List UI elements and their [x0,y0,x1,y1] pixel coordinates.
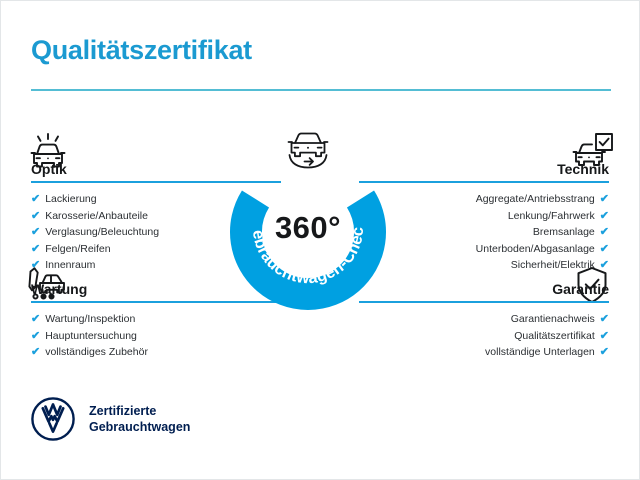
section-technik-divider [359,181,609,183]
vw-certified-lockup: Zertifizierte Gebrauchtwagen [31,397,190,441]
section-garantie-list: Garantienachweis✔Qualitätszertifikat✔vol… [359,303,609,361]
checklist-item-label: Qualitätszertifikat [514,328,595,345]
checklist-item-label: Hauptuntersuchung [45,328,137,345]
checklist-item: ✔Wartung/Inspektion [31,311,281,328]
car-rotate-icon [277,125,339,171]
check-icon: ✔ [600,328,609,345]
check-icon: ✔ [600,224,609,241]
check-icon: ✔ [600,208,609,225]
section-technik-list: Aggregate/Antriebsstrang✔Lenkung/Fahrwer… [359,183,609,274]
check-icon: ✔ [31,241,40,258]
section-garantie: Garantie Garantienachweis✔Qualitätszerti… [359,273,609,361]
checklist-item-label: Verglasung/Beleuchtung [45,224,159,241]
section-optik-title: Optik [31,161,67,177]
checklist-item: ✔Hauptuntersuchung [31,328,281,345]
checklist-item-label: Wartung/Inspektion [45,311,135,328]
checklist-item-label: vollständige Unterlagen [485,344,595,361]
section-wartung-title: Wartung [31,281,87,297]
badge-360-gebrauchtwagen-check: Gebrauchtwagen-Check 360° [229,149,387,307]
check-icon: ✔ [31,328,40,345]
vw-logo [31,397,75,441]
section-technik: Technik Aggregate/Antriebsstrang✔Lenkung… [359,153,609,274]
check-icon: ✔ [600,241,609,258]
checklist-item: Unterboden/Abgasanlage✔ [359,241,609,258]
section-garantie-header: Garantie [359,273,609,303]
vw-lockup-text: Zertifizierte Gebrauchtwagen [89,403,190,435]
check-icon: ✔ [600,191,609,208]
checklist-item: Lenkung/Fahrwerk✔ [359,208,609,225]
checklist-item-label: Unterboden/Abgasanlage [476,241,595,258]
badge-ring: Gebrauchtwagen-Check [229,149,387,307]
page-title: Qualitätszertifikat [31,35,252,66]
check-icon: ✔ [31,344,40,361]
checklist-item-label: vollständiges Zubehör [45,344,148,361]
section-garantie-title: Garantie [552,281,609,297]
checklist-item: Qualitätszertifikat✔ [359,328,609,345]
checklist-item-label: Lackierung [45,191,96,208]
checklist-item: Garantienachweis✔ [359,311,609,328]
checklist-item-label: Aggregate/Antriebsstrang [476,191,595,208]
checklist-item-label: Garantienachweis [511,311,595,328]
checklist-item-label: Karosserie/Anbauteile [45,208,148,225]
certificate-page: Qualitätszertifikat Optik ✔Lackierung✔Ka… [0,0,640,480]
checklist-item: vollständige Unterlagen✔ [359,344,609,361]
checklist-item: Aggregate/Antriebsstrang✔ [359,191,609,208]
vw-lockup-line2: Gebrauchtwagen [89,419,190,435]
section-garantie-divider [359,301,609,303]
check-icon: ✔ [600,311,609,328]
check-icon: ✔ [600,344,609,361]
checklist-item-label: Bremsanlage [533,224,595,241]
checklist-item: ✔vollständiges Zubehör [31,344,281,361]
checklist-item: Bremsanlage✔ [359,224,609,241]
check-icon: ✔ [31,191,40,208]
check-icon: ✔ [31,208,40,225]
checklist-item-label: Felgen/Reifen [45,241,110,258]
check-icon: ✔ [31,311,40,328]
vw-lockup-line1: Zertifizierte [89,403,190,419]
section-technik-title: Technik [557,161,609,177]
section-wartung-list: ✔Wartung/Inspektion✔Hauptuntersuchung✔vo… [31,303,281,361]
section-technik-header: Technik [359,153,609,183]
checklist-item-label: Lenkung/Fahrwerk [508,208,595,225]
title-divider [31,89,611,91]
check-icon: ✔ [31,224,40,241]
